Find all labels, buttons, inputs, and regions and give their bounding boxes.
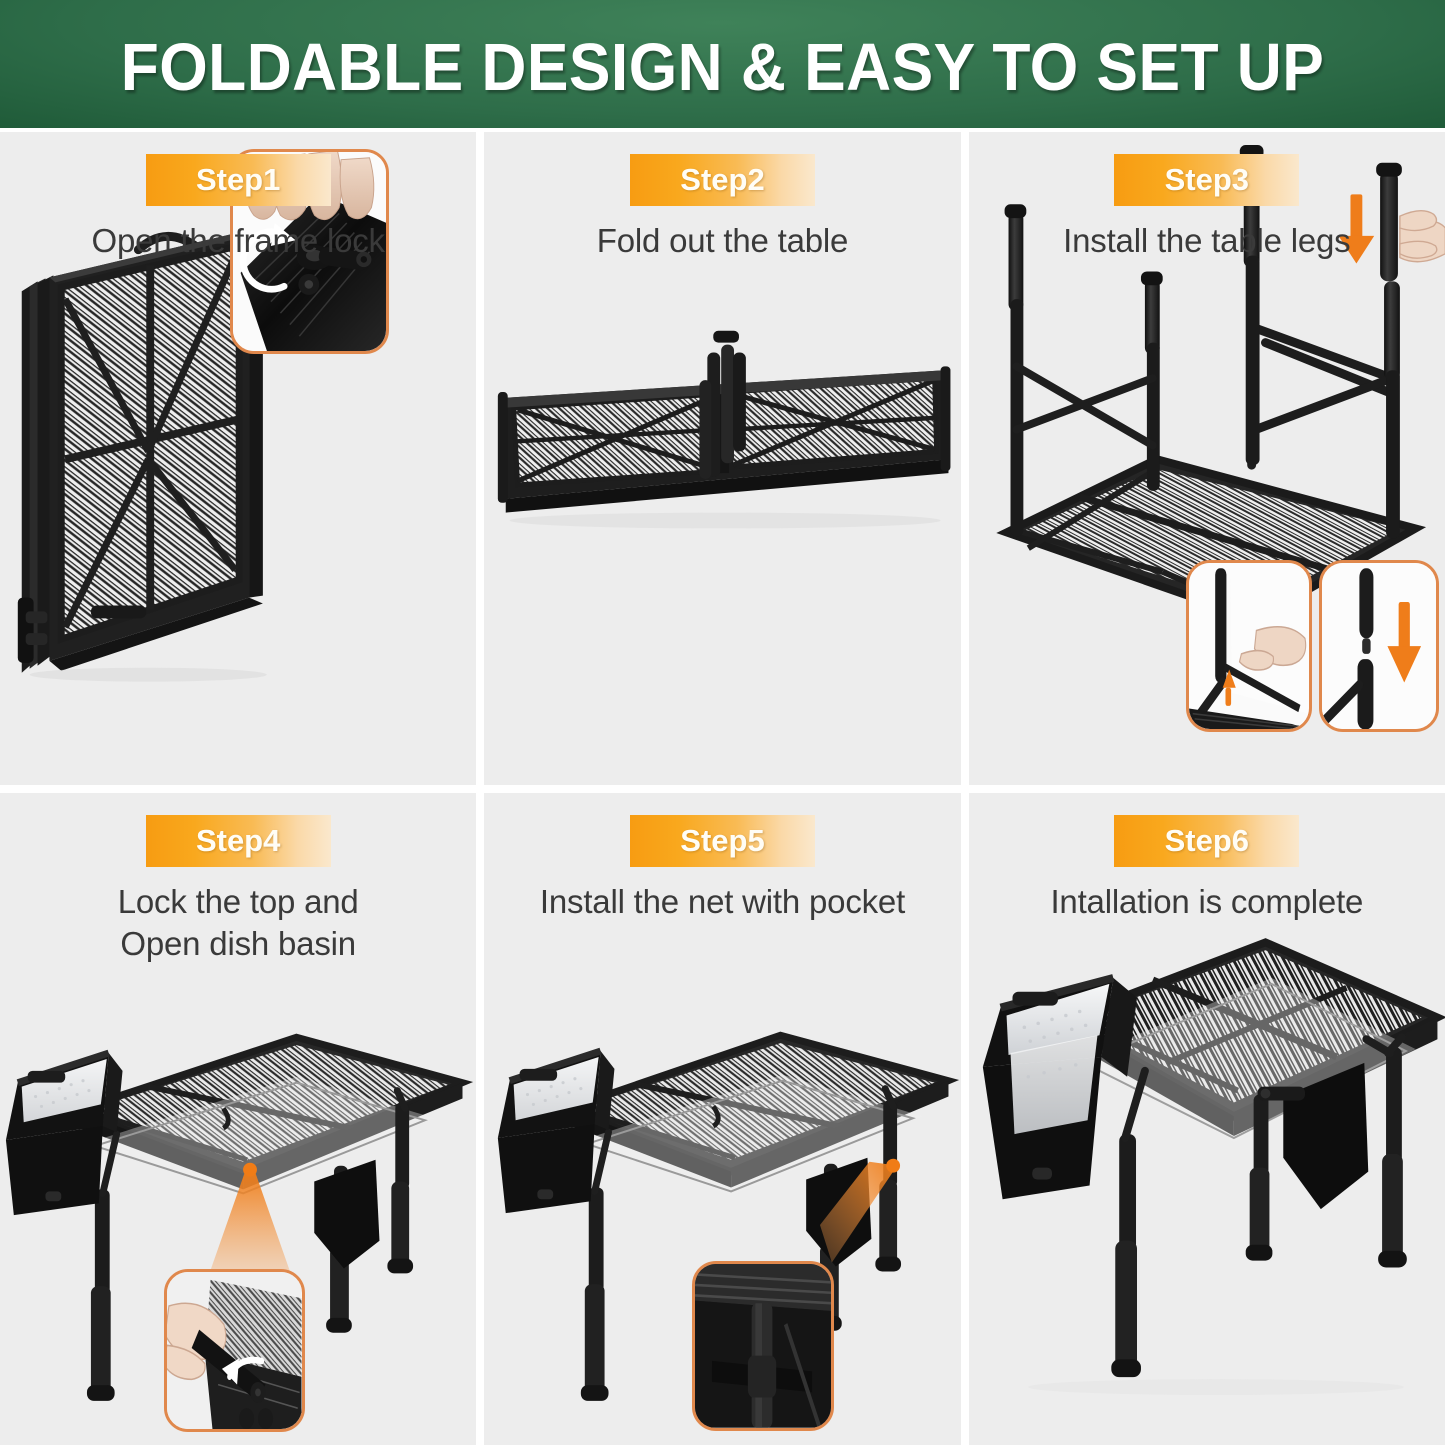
step-caption-4: Lock the top and Open dish basin xyxy=(0,881,476,967)
inset-hand-releasing-leg-latch xyxy=(1186,560,1312,732)
step-caption-2-line1: Fold out the table xyxy=(597,222,848,259)
step-caption-6: Intallation is complete xyxy=(969,881,1445,924)
step-caption-5-line1: Install the net with pocket xyxy=(540,883,905,920)
page-title: FOLDABLE DESIGN & EASY TO SET UP xyxy=(51,0,1395,128)
header-banner: FOLDABLE DESIGN & EASY TO SET UP xyxy=(0,0,1445,128)
step-caption-4-line2: Open dish basin xyxy=(0,923,476,966)
step-header-5: Step5 Install the net with pocket xyxy=(484,793,960,924)
step-header-3: Step3 Install the table legs xyxy=(969,132,1445,263)
step-header-4: Step4 Lock the top and Open dish basin xyxy=(0,793,476,967)
step-caption-1: Open the frame lock xyxy=(0,220,476,263)
inset-hand-unlocking-top-latch xyxy=(164,1269,305,1432)
step-badge-3: Step3 xyxy=(1114,154,1299,206)
step-caption-3-line1: Install the table legs xyxy=(1063,222,1350,259)
inset-strap-attached-to-leg xyxy=(692,1261,835,1431)
step-header-6: Step6 Intallation is complete xyxy=(969,793,1445,924)
step-badge-5: Step5 xyxy=(630,815,815,867)
step-caption-4-line1: Lock the top and xyxy=(118,883,359,920)
infographic-page: FOLDABLE DESIGN & EASY TO SET UP xyxy=(0,0,1445,1445)
step-header-1: Step1 Open the frame lock xyxy=(0,132,476,263)
step-cell-2: Step2 Fold out the table xyxy=(484,132,960,785)
inset-leg-tube-insert-down xyxy=(1319,560,1439,732)
step-cell-4: Step4 Lock the top and Open dish basin xyxy=(0,793,476,1445)
step-caption-5: Install the net with pocket xyxy=(484,881,960,924)
step-badge-2: Step2 xyxy=(630,154,815,206)
steps-grid: Step1 Open the frame lock xyxy=(0,128,1445,1445)
step-cell-5: Step5 Install the net with pocket xyxy=(484,793,960,1445)
step-caption-6-line1: Intallation is complete xyxy=(1050,883,1363,920)
step-badge-6: Step6 xyxy=(1114,815,1299,867)
step-caption-1-line1: Open the frame lock xyxy=(91,222,384,259)
step-cell-6: Step6 Intallation is complete xyxy=(969,793,1445,1445)
step-cell-1: Step1 Open the frame lock xyxy=(0,132,476,785)
step-caption-3: Install the table legs xyxy=(969,220,1445,263)
step-caption-2: Fold out the table xyxy=(484,220,960,263)
step-badge-4: Step4 xyxy=(146,815,331,867)
step-cell-3: Step3 Install the table legs xyxy=(969,132,1445,785)
step-badge-1: Step1 xyxy=(146,154,331,206)
step-header-2: Step2 Fold out the table xyxy=(484,132,960,263)
